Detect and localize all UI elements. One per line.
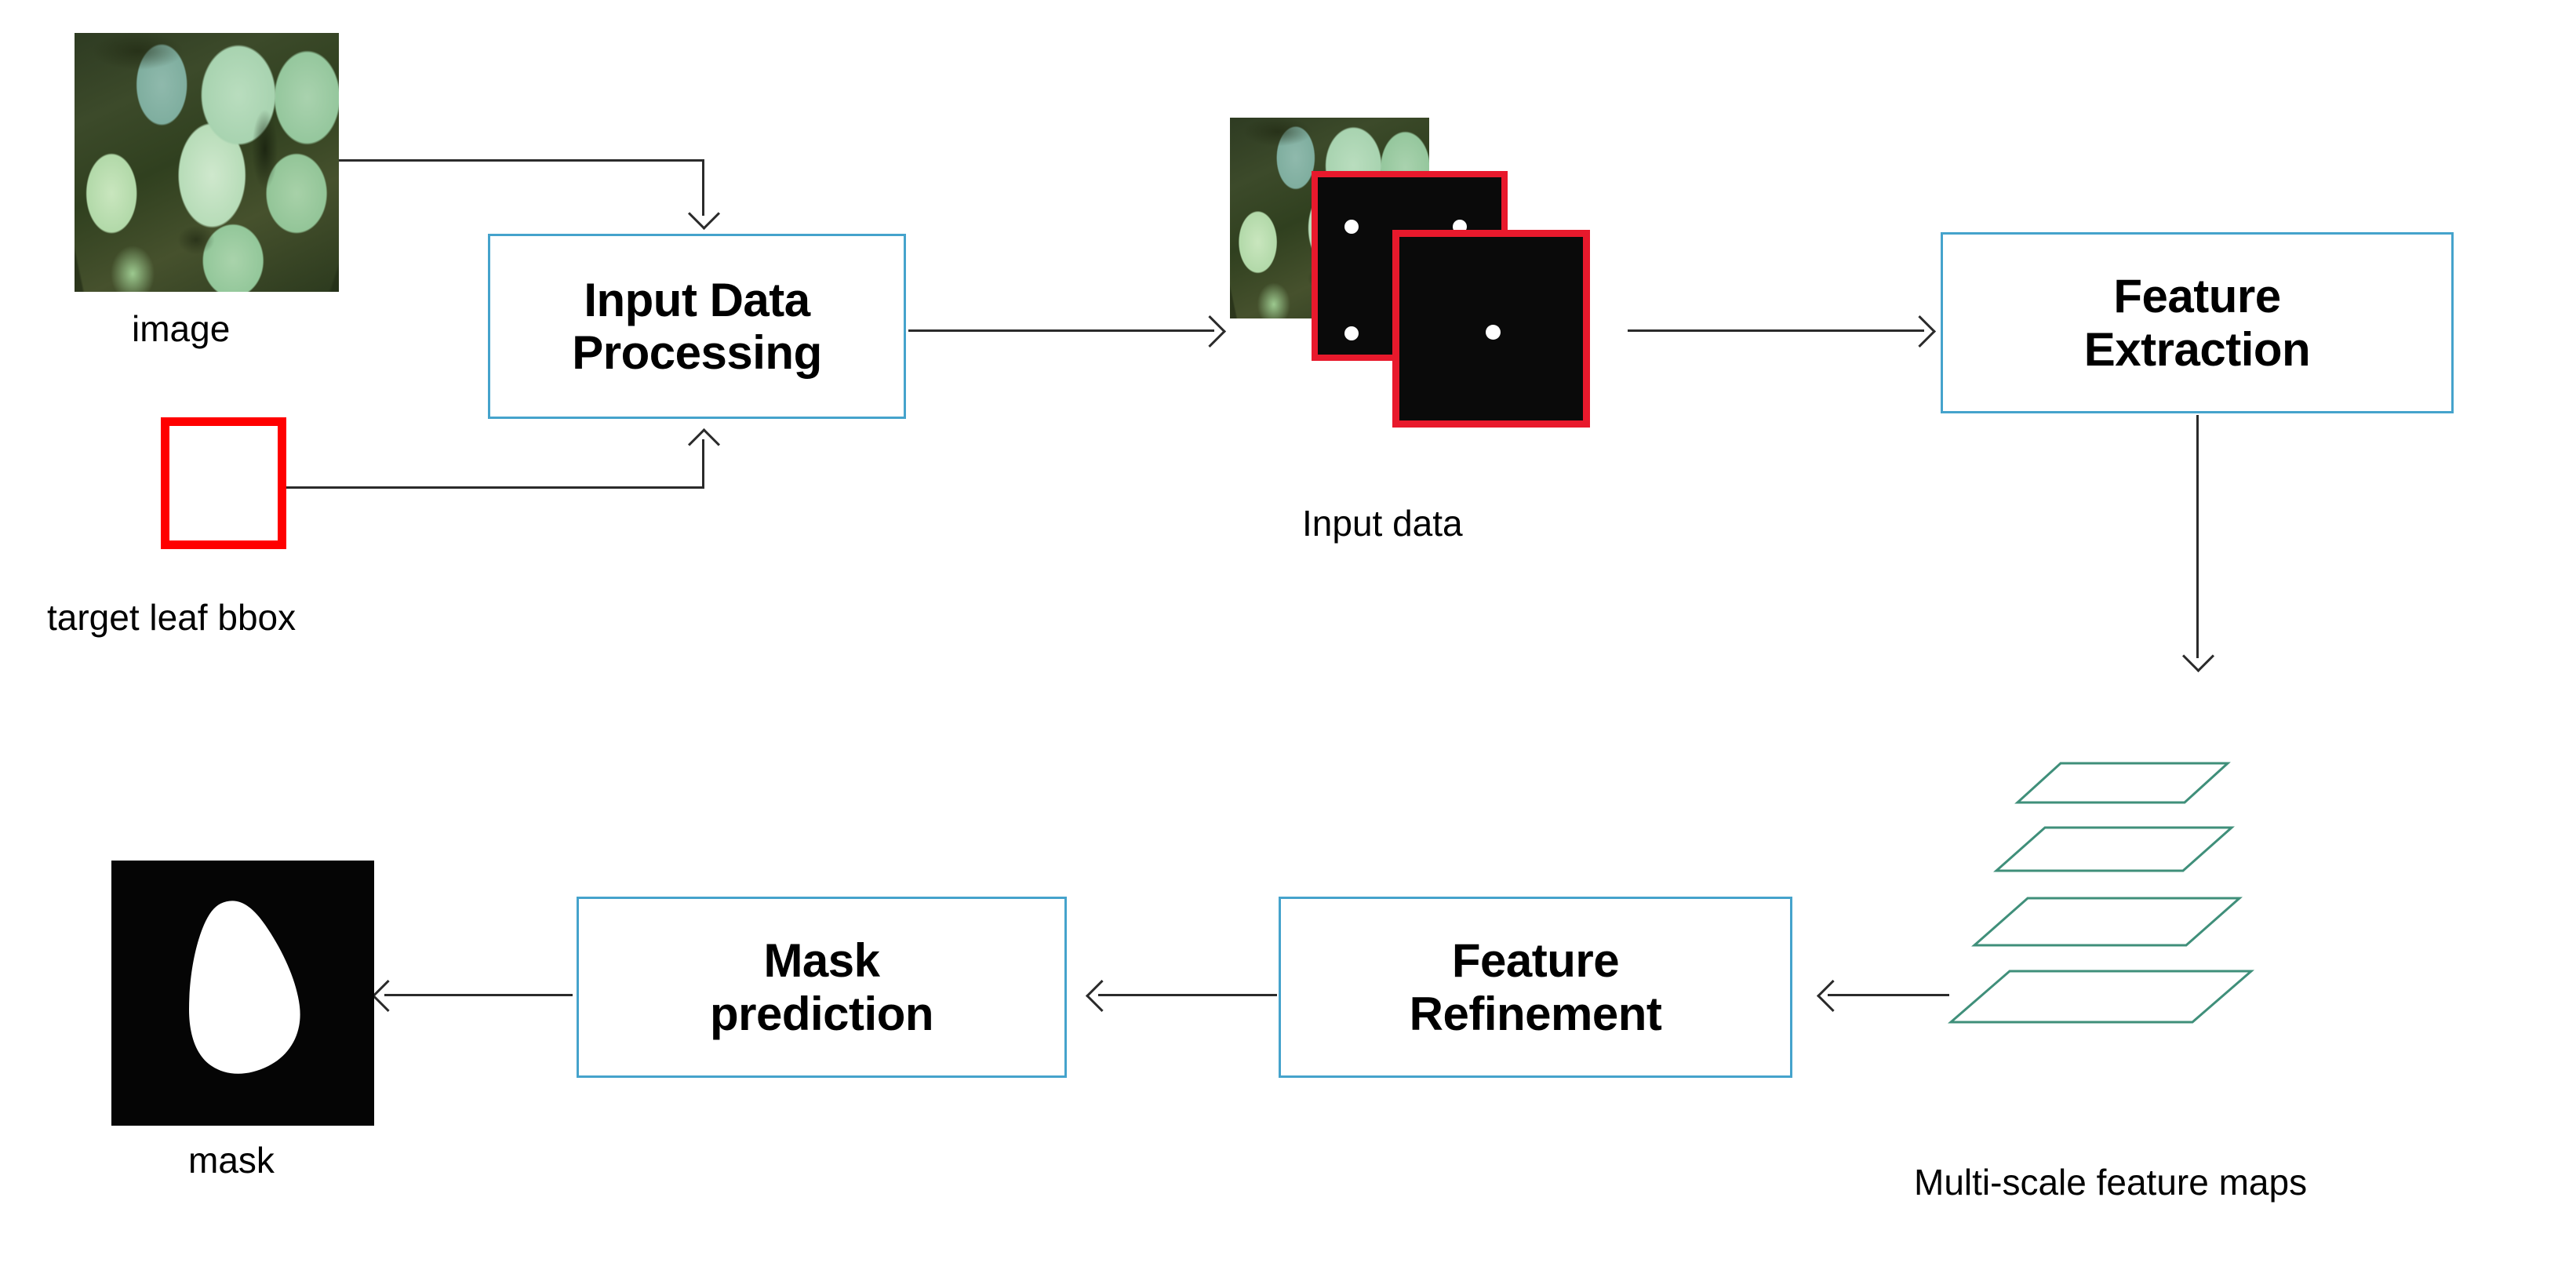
arrowhead-inputdata-to-stage2 xyxy=(1904,315,1936,348)
multi-scale-feature-maps xyxy=(1926,749,2506,1063)
diagram-canvas: image target leaf bbox Input Data Proces… xyxy=(0,0,2576,1281)
stage-input-data-processing[interactable]: Input Data Processing xyxy=(488,234,906,419)
arrowhead-stage1-to-inputdata xyxy=(1194,315,1226,348)
stage-feature-refinement-label: Feature Refinement xyxy=(1410,934,1662,1039)
prompt-point-1 xyxy=(1344,220,1359,234)
arrowhead-image-to-stage1 xyxy=(688,198,720,230)
arrowhead-stage4-to-mask xyxy=(372,980,404,1012)
stage-input-data-processing-label: Input Data Processing xyxy=(572,274,821,379)
connector-stage2-to-featuremaps xyxy=(2196,415,2199,658)
arrowhead-stage2-to-featuremaps xyxy=(2182,640,2214,672)
connector-bbox-to-stage1-horizontal xyxy=(286,486,704,489)
feature-map-3 xyxy=(1974,898,2239,945)
target-leaf-bbox-caption: target leaf bbox xyxy=(47,596,296,639)
mask-blob-svg xyxy=(111,861,374,1126)
arrowhead-bbox-to-stage1 xyxy=(688,428,720,460)
arrowhead-stage3-to-stage4 xyxy=(1086,980,1118,1012)
input-leaf-photo xyxy=(75,33,339,292)
mask-leaf-blob xyxy=(189,901,300,1073)
image-caption: image xyxy=(132,308,230,350)
stage-mask-prediction-label: Mask prediction xyxy=(710,934,933,1039)
stage-feature-extraction-label: Feature Extraction xyxy=(2084,270,2310,375)
feature-map-1 xyxy=(2018,763,2228,802)
connector-image-to-stage1-horizontal xyxy=(339,159,704,162)
stage-feature-refinement[interactable]: Feature Refinement xyxy=(1279,897,1792,1078)
multi-scale-feature-maps-caption: Multi-scale feature maps xyxy=(1914,1161,2307,1203)
feature-map-2 xyxy=(1996,828,2232,871)
connector-stage1-to-inputdata xyxy=(908,329,1214,332)
prompt-point-3 xyxy=(1344,326,1359,340)
feature-maps-svg xyxy=(1926,749,2506,1063)
prompt-point-center xyxy=(1486,325,1501,340)
stage-mask-prediction[interactable]: Mask prediction xyxy=(577,897,1067,1078)
arrowhead-featuremaps-to-stage3 xyxy=(1817,980,1849,1012)
input-data-caption: Input data xyxy=(1302,502,1463,544)
output-mask-image xyxy=(111,861,374,1126)
target-leaf-bbox xyxy=(161,417,286,549)
feature-map-4 xyxy=(1951,971,2251,1022)
connector-stage4-to-mask xyxy=(384,994,573,996)
stage-feature-extraction[interactable]: Feature Extraction xyxy=(1941,232,2454,413)
connector-inputdata-to-stage2 xyxy=(1628,329,1924,332)
connector-stage3-to-stage4 xyxy=(1098,994,1277,996)
inputdata-mask-layer-front xyxy=(1392,230,1590,428)
mask-caption: mask xyxy=(188,1139,275,1181)
